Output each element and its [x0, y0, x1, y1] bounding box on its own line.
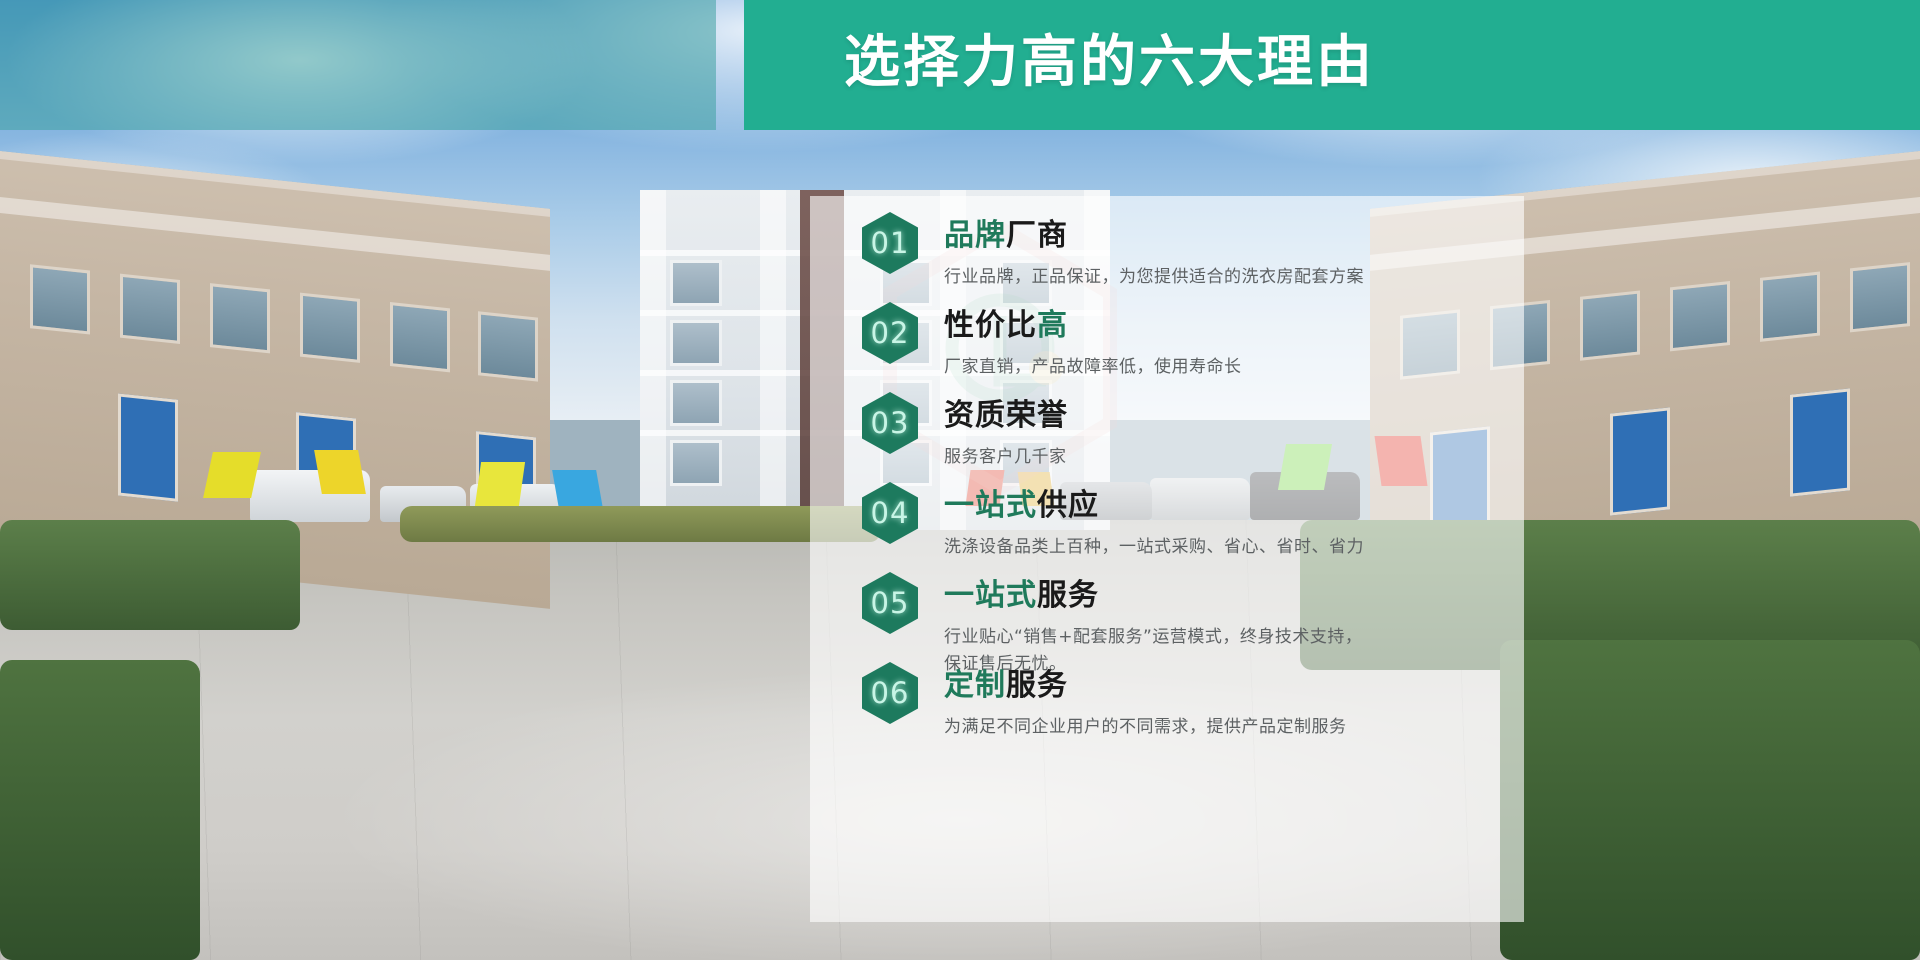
reason-title: 性价比高 [944, 306, 1068, 346]
reasons-list: 01 品牌厂商 行业品牌，正品保证，为您提供适合的洗衣房配套方案 02 性价比高… [810, 196, 1524, 922]
reason-title-dark: 服务 [1006, 668, 1068, 703]
reason-desc-line1: 为满足不同企业用户的不同需求，提供产品定制服务 [944, 717, 1347, 737]
reason-description: 行业品牌，正品保证，为您提供适合的洗衣房配套方案 [944, 264, 1484, 291]
reason-title-green: 品牌 [944, 218, 1006, 253]
reason-title-dark: 厂商 [1006, 218, 1068, 253]
reason-title: 资质荣誉 [944, 396, 1068, 436]
hex-badge-icon: 02 [862, 302, 918, 364]
hex-badge-icon: 01 [862, 212, 918, 274]
reason-title-green: 高 [1037, 308, 1068, 343]
header-tint-strip [0, 0, 716, 130]
hex-badge-icon: 06 [862, 662, 918, 724]
promo-banner: 选择力高的六大理由 01 品牌厂商 行业品牌，正品保证，为您提供适合的洗衣房配套… [0, 0, 1920, 960]
shrub [400, 506, 880, 542]
hex-badge-icon: 05 [862, 572, 918, 634]
reason-title-green: 一站式 [944, 488, 1037, 523]
reason-description: 为满足不同企业用户的不同需求，提供产品定制服务 [944, 714, 1484, 741]
header-bar: 选择力高的六大理由 [744, 0, 1920, 130]
flag-banner [475, 462, 525, 506]
reason-desc-line1: 厂家直销，产品故障率低，使用寿命长 [944, 357, 1242, 377]
reason-title-green: 定制 [944, 668, 1006, 703]
reason-title-dark: 服务 [1037, 578, 1099, 613]
reason-title-green: 一站式 [944, 578, 1037, 613]
reason-title-dark: 供应 [1037, 488, 1099, 523]
reason-number: 03 [871, 406, 910, 440]
reason-title-dark: 资质荣誉 [944, 398, 1068, 433]
hex-badge-icon: 04 [862, 482, 918, 544]
reason-number: 01 [871, 226, 910, 260]
shrub [0, 660, 200, 960]
shrub [0, 520, 300, 630]
reason-title-dark: 性价比 [944, 308, 1037, 343]
page-title: 选择力高的六大理由 [844, 0, 1375, 130]
reason-title: 定制服务 [944, 666, 1068, 706]
reason-description: 洗涤设备品类上百种，一站式采购、省心、省时、省力 [944, 534, 1484, 561]
reason-desc-line1: 洗涤设备品类上百种，一站式采购、省心、省时、省力 [944, 537, 1364, 557]
reason-title: 一站式服务 [944, 576, 1099, 616]
reason-desc-line1: 行业品牌，正品保证，为您提供适合的洗衣房配套方案 [944, 267, 1364, 287]
reason-number: 06 [871, 676, 910, 710]
reason-number: 02 [871, 316, 910, 350]
reason-title: 一站式供应 [944, 486, 1099, 526]
reason-desc-line1: 行业贴心“销售+配套服务”运营模式，终身技术支持， [944, 627, 1362, 647]
reason-description: 服务客户几千家 [944, 444, 1484, 471]
flag-banner [203, 452, 261, 498]
reason-number: 04 [871, 496, 910, 530]
reason-number: 05 [871, 586, 910, 620]
reason-description: 厂家直销，产品故障率低，使用寿命长 [944, 354, 1484, 381]
flag-banner [314, 450, 366, 494]
shrub [1500, 640, 1920, 960]
hex-badge-icon: 03 [862, 392, 918, 454]
reason-desc-line1: 服务客户几千家 [944, 447, 1067, 467]
reason-title: 品牌厂商 [944, 216, 1068, 256]
